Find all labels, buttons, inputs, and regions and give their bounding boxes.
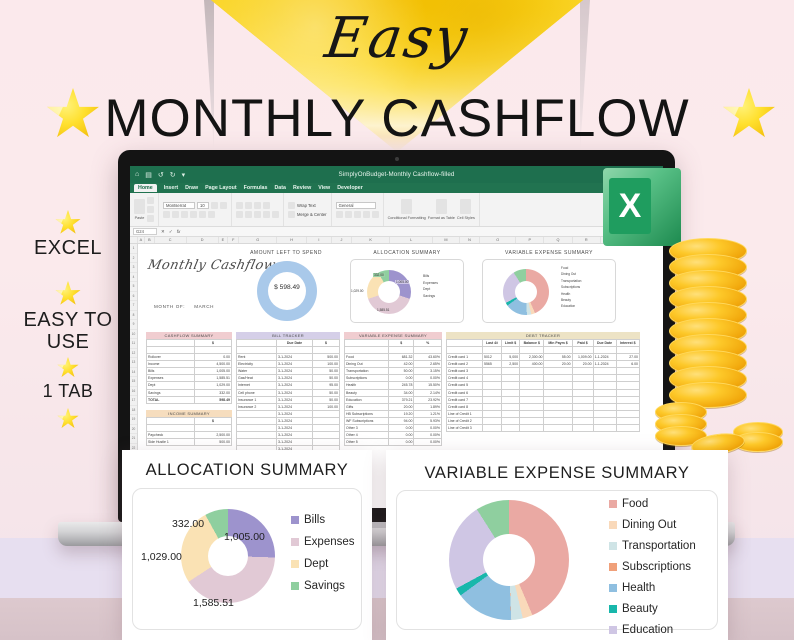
font-group[interactable]: Montserrat 10	[159, 193, 232, 226]
cell-pct[interactable]: 0.00%	[414, 425, 442, 432]
cell-label[interactable]: HB Subscriptions	[345, 410, 389, 417]
variable-expense-summary-card: VARIABLE EXPENSE SUMMARY Food Dining Out…	[386, 450, 728, 640]
table-row: Line of Credit 2	[447, 417, 640, 424]
alignment-group[interactable]	[232, 193, 284, 226]
table-row: 3-1-2024	[237, 432, 340, 439]
cell-label[interactable]	[237, 432, 277, 439]
column-O[interactable]: O	[480, 237, 516, 243]
sheet-variable-donut-chart	[503, 269, 549, 315]
cell-label[interactable]: Savings	[147, 389, 195, 396]
table-row: HB Subscriptions19.201.21%	[345, 410, 442, 417]
table-row: 3-1-2024	[237, 439, 340, 446]
amount-left-donut-chart	[257, 261, 317, 321]
align-right-icon[interactable]	[254, 211, 261, 218]
sheet-allocation-label-dept: 1,029.00	[351, 289, 363, 293]
variable-legend-beauty: Beauty	[609, 603, 696, 615]
decrease-font-icon[interactable]	[220, 202, 227, 209]
cell-due[interactable]: 3-1-2024	[277, 425, 313, 432]
comma-icon[interactable]	[354, 211, 361, 218]
variable-legend-transportation: Transportation	[609, 540, 696, 552]
debt-tracker-banner: DEBT TRACKER	[446, 332, 640, 339]
feature-label-easy-to-use: EASY TOUSE	[3, 310, 133, 353]
increase-decimal-icon[interactable]	[363, 211, 370, 218]
table-row: Credit card 150125,0002,300.0055.001,009…	[447, 354, 640, 361]
cell-due[interactable]: 3-1-2024	[277, 410, 313, 417]
align-left-icon[interactable]	[236, 211, 243, 218]
cell-label[interactable]: Line of Credit 3	[447, 425, 483, 432]
cell-pct[interactable]: 0.00%	[414, 439, 442, 446]
cashflow-summary-banner: CASHFLOW SUMMARY	[146, 332, 232, 339]
debt-col-balance: Balance $	[520, 340, 544, 347]
cell-due[interactable]: 3-1-2024	[277, 403, 313, 410]
save-icon[interactable]: ▤	[145, 171, 152, 179]
cell-label[interactable]: Insurance 1	[237, 396, 277, 403]
variable-legend-health: Health	[609, 582, 696, 594]
table-row: 3-1-2024	[237, 410, 340, 417]
formula-bar[interactable]: G24 ✕ ✓ fx	[130, 227, 663, 237]
cell-value[interactable]: 245.78	[389, 382, 414, 389]
clipboard-group[interactable]: Paste	[130, 193, 159, 226]
cell-value[interactable]: 50.00	[312, 375, 339, 382]
ribbon-toolbar[interactable]: Paste Montserrat 10	[130, 193, 663, 227]
cell-value[interactable]: 19.20	[389, 410, 414, 417]
variable-expense-table[interactable]: $% Food681.3243.60% Dining Out42.002.65%…	[344, 339, 442, 446]
tab-data[interactable]: Data	[274, 185, 285, 191]
month-of-value: MARCH	[194, 304, 214, 309]
cell-value[interactable]: 100.00	[312, 361, 339, 368]
income-col-amount: $	[195, 418, 232, 425]
name-box[interactable]: G24	[133, 228, 157, 235]
cell-label[interactable]: Subscriptions	[345, 375, 389, 382]
table-row: Dining Out42.002.65%	[345, 361, 442, 368]
cell-value[interactable]: 50.00	[312, 389, 339, 396]
align-center-icon[interactable]	[245, 211, 252, 218]
font-color-icon[interactable]	[208, 211, 215, 218]
cell-label[interactable]: Health	[345, 382, 389, 389]
cancel-formula-icon[interactable]: ✕	[161, 229, 165, 235]
cell-label[interactable]: WF Subscriptions	[345, 417, 389, 424]
excel-title-bar: ⌂ ▤ ↺ ↻ ▾ SimplyOnBudget-Monthly Cashflo…	[130, 166, 663, 183]
cell-value[interactable]: 50.00	[312, 368, 339, 375]
cell-label[interactable]	[237, 439, 277, 446]
format-as-table-label: Format as Table	[428, 216, 455, 220]
debt-col-paid: Paid $	[572, 340, 593, 347]
cell-label[interactable]: Internet	[237, 382, 277, 389]
cell-due[interactable]: 3-1-2024	[277, 396, 313, 403]
column-C[interactable]: C	[155, 237, 187, 243]
conditional-formatting-label: Conditional Formatting	[388, 216, 426, 220]
sheet-signature-title: Monthly Cashflow	[146, 258, 277, 273]
italic-icon[interactable]	[172, 211, 179, 218]
column-J[interactable]: J	[332, 237, 353, 243]
column-A[interactable]: A	[138, 237, 146, 243]
home-icon[interactable]: ⌂	[135, 171, 139, 178]
bill-col-due: Due Date	[277, 340, 313, 347]
decrease-indent-icon[interactable]	[263, 211, 270, 218]
table-row: Savings332.00	[147, 389, 232, 396]
tab-developer[interactable]: Developer	[337, 185, 363, 191]
table-row: Paycheck2,500.00	[147, 432, 232, 439]
table-row: Credit card 6	[447, 389, 640, 396]
cell-value[interactable]: 20.00	[389, 403, 414, 410]
wrap-text-label: Wrap Text	[297, 203, 316, 208]
excel-logo-letter: X	[609, 178, 651, 234]
allocation-legend-dept: Dept	[291, 558, 355, 570]
tab-view[interactable]: View	[318, 185, 330, 191]
cell-due[interactable]: 3-1-2024	[277, 417, 313, 424]
cell-label[interactable]: Credit card 5	[447, 382, 483, 389]
cell-value[interactable]: 681.32	[389, 354, 414, 361]
cell-value[interactable]: 50.00	[312, 396, 339, 403]
quick-access-toolbar[interactable]: ⌂ ▤ ↺ ↻ ▾	[135, 171, 185, 179]
cell-styles-label: Cell Styles	[457, 216, 475, 220]
cell-label[interactable]: TOTAL	[147, 396, 195, 403]
table-row: Side Hustle 1500.00	[147, 439, 232, 446]
cell-label[interactable]: Beauty	[345, 389, 389, 396]
cell-value[interactable]: 0.00	[389, 432, 414, 439]
cell-label[interactable]: Other 3	[345, 425, 389, 432]
cell-min[interactable]: 55.00	[544, 354, 572, 361]
cell-pct[interactable]: 1.89%	[414, 403, 442, 410]
cell-due[interactable]: 3-1-2024	[277, 382, 313, 389]
table-row: Credit card 3	[447, 368, 640, 375]
cell-label[interactable]: Insurance 2	[237, 403, 277, 410]
table-row: Expenses1,585.51	[147, 375, 232, 382]
accept-formula-icon[interactable]: ✓	[169, 229, 173, 235]
table-row: Other 30.000.00%	[345, 425, 442, 432]
format-painter-icon[interactable]	[147, 215, 154, 222]
cell-label[interactable]: Credit card 8	[447, 403, 483, 410]
tab-page-layout[interactable]: Page Layout	[205, 185, 237, 191]
income-summary-table[interactable]: $ Paycheck2,500.00 Side Hustle 1500.00	[146, 417, 232, 446]
align-bottom-icon[interactable]	[254, 202, 261, 209]
cell-label[interactable]: Electricity	[237, 361, 277, 368]
cell-last4[interactable]: 5012	[483, 354, 502, 361]
table-row: Credit card 5	[447, 382, 640, 389]
table-row: Dept1,029.00	[147, 382, 232, 389]
debt-tracker-table[interactable]: Last 4# Limit $ Balance $ Min Paym $ Pai…	[446, 339, 640, 432]
cell-label[interactable]: Expenses	[147, 375, 195, 382]
bill-tracker-banner: BILL TRACKER	[236, 332, 340, 339]
cell-label[interactable]: Credit card 3	[447, 368, 483, 375]
sheet-legend-dept: Dept	[423, 287, 438, 291]
debt-col-last4: Last 4#	[483, 340, 502, 347]
cell-value[interactable]: 0.00	[389, 425, 414, 432]
cell-value[interactable]: 598.49	[195, 396, 232, 403]
sheet-vlegend-education: Education	[561, 304, 581, 308]
table-row: Credit card 255652,500400.0020.0020.001-…	[447, 361, 640, 368]
cell-value[interactable]: 42.00	[389, 361, 414, 368]
column-H[interactable]: H	[277, 237, 307, 243]
cell-value[interactable]: 100.00	[312, 403, 339, 410]
cell-value[interactable]: 332.00	[195, 389, 232, 396]
cell-label[interactable]: Side Hustle 1	[147, 439, 195, 446]
cell-interest[interactable]: 6.00	[616, 361, 640, 368]
column-D[interactable]: D	[187, 237, 219, 243]
paste-icon[interactable]	[134, 199, 145, 214]
cell-due[interactable]: 3-1-2024	[277, 439, 313, 446]
month-of-label: MONTH OF:	[154, 304, 185, 309]
ve-col-amount: $	[389, 340, 414, 347]
cell-pct[interactable]: 2.65%	[414, 361, 442, 368]
cell-label[interactable]: Rollover	[147, 354, 195, 361]
cell-label[interactable]: Paycheck	[147, 432, 195, 439]
cell-value[interactable]: 0.00	[195, 354, 232, 361]
cell-due[interactable]: 1-1-2024	[593, 354, 616, 361]
column-K[interactable]: K	[352, 237, 390, 243]
table-row: Cell phone3-1-202450.00	[237, 389, 340, 396]
increase-indent-icon[interactable]	[272, 211, 279, 218]
cell-value[interactable]: 34.00	[389, 389, 414, 396]
webcam-icon	[395, 157, 399, 161]
cell-styles-icon[interactable]	[460, 199, 471, 214]
table-row: Credit card 4	[447, 375, 640, 382]
percent-icon[interactable]	[345, 211, 352, 218]
conditional-formatting-icon[interactable]	[401, 199, 412, 214]
cell-label[interactable]: Credit card 2	[447, 361, 483, 368]
cell-label[interactable]: Credit card 4	[447, 375, 483, 382]
bill-tracker-table[interactable]: Due Date$ Rent3-1-2024500.00 Electricity…	[236, 339, 340, 453]
excel-logo: X	[603, 168, 681, 246]
wrap-text-icon[interactable]	[288, 202, 295, 209]
cell-value[interactable]: 0.00	[389, 375, 414, 382]
sheet-allocation-label-expenses: 1,585.51	[377, 308, 389, 312]
cell-pct[interactable]: 23.92%	[414, 396, 442, 403]
feature-label-one-tab: 1 TAB	[3, 382, 133, 401]
sheet-vlegend-transport: Transportation	[561, 279, 581, 283]
table-row: TOTAL598.49	[147, 396, 232, 403]
tab-home[interactable]: Home	[134, 184, 157, 192]
cell-label[interactable]: Credit card 7	[447, 396, 483, 403]
currency-icon[interactable]	[336, 211, 343, 218]
cell-value[interactable]: 379.21	[389, 396, 414, 403]
cell-pct[interactable]: 1.21%	[414, 410, 442, 417]
cell-label[interactable]: Credit card 6	[447, 389, 483, 396]
cell-due[interactable]: 3-1-2024	[277, 368, 313, 375]
cell-due[interactable]: 3-1-2024	[277, 361, 313, 368]
variable-expense-banner: VARIABLE EXPENSE SUMMARY	[344, 332, 442, 339]
cell-value[interactable]: 2,500.00	[195, 432, 232, 439]
cell-pct[interactable]: 43.60%	[414, 354, 442, 361]
align-middle-icon[interactable]	[245, 202, 252, 209]
cell-due[interactable]: 3-1-2024	[277, 389, 313, 396]
table-row: Gas/Heat3-1-202450.00	[237, 375, 340, 382]
table-row: Transportation50.003.15%	[345, 368, 442, 375]
cell-label[interactable]: Transportation	[345, 368, 389, 375]
sheet-vlegend-beauty: Beauty	[561, 298, 581, 302]
allocation-legend-expenses: Expenses	[291, 536, 355, 548]
cut-icon[interactable]	[147, 197, 154, 204]
sheet-allocation-title: ALLOCATION SUMMARY	[352, 250, 462, 256]
table-row: Water3-1-202450.00	[237, 368, 340, 375]
cell-value[interactable]: 500.00	[195, 439, 232, 446]
tab-review[interactable]: Review	[293, 185, 311, 191]
number-group[interactable]: General	[332, 193, 384, 226]
cell-last4[interactable]: 5565	[483, 361, 502, 368]
script-easy-text: Easy	[0, 6, 794, 71]
cell-min[interactable]: 20.00	[544, 361, 572, 368]
cell-pct[interactable]: 15.50%	[414, 382, 442, 389]
borders-icon[interactable]	[190, 211, 197, 218]
table-row: 3-1-2024	[237, 425, 340, 432]
number-format-select[interactable]: General	[336, 202, 376, 209]
fill-color-icon[interactable]	[199, 211, 206, 218]
table-row: Electricity3-1-2024100.00	[237, 361, 340, 368]
tab-formulas[interactable]: Formulas	[244, 185, 268, 191]
cell-paid[interactable]: 20.00	[572, 361, 593, 368]
copy-icon[interactable]	[147, 206, 154, 213]
column-F[interactable]: F	[228, 237, 239, 243]
cell-label[interactable]: Water	[237, 368, 277, 375]
cell-value[interactable]: 94.00	[389, 417, 414, 424]
debt-col-due: Due Date	[593, 340, 616, 347]
table-row: Credit card 7	[447, 396, 640, 403]
column-R[interactable]: R	[573, 237, 601, 243]
cell-label[interactable]: Credit card 1	[447, 354, 483, 361]
table-row: Other 50.000.00%	[345, 439, 442, 446]
column-G[interactable]: G	[239, 237, 277, 243]
cell-label[interactable]: Dining Out	[345, 361, 389, 368]
cell-pct[interactable]: 5.93%	[414, 417, 442, 424]
align-top-icon[interactable]	[236, 202, 243, 209]
variable-legend-subscriptions: Subscriptions	[609, 561, 696, 573]
cell-due[interactable]: 1-1-2024	[593, 361, 616, 368]
cell-value[interactable]: 95.00	[312, 382, 339, 389]
merge-center-icon[interactable]	[288, 211, 295, 218]
column-M[interactable]: M	[433, 237, 459, 243]
page-title: MONTHLY CASHFLOW	[0, 88, 794, 149]
sheet-vlegend-subs: Subscriptions	[561, 285, 581, 289]
column-header-row[interactable]: A B C D E F G H I J K L M N O P Q R S T	[130, 237, 663, 244]
feature-label-excel: EXCEL	[3, 238, 133, 260]
cell-due[interactable]: 3-1-2024	[277, 375, 313, 382]
cell-label[interactable]	[237, 410, 277, 417]
allocation-legend-savings: Savings	[291, 580, 355, 592]
font-name-input[interactable]: Montserrat	[163, 202, 195, 209]
font-size-input[interactable]: 10	[197, 202, 209, 209]
star-icon-easy	[55, 281, 81, 307]
debt-col-interest: Interest $	[616, 340, 640, 347]
redo-icon[interactable]: ↻	[170, 171, 176, 179]
cell-label[interactable]: Gifts	[345, 403, 389, 410]
cell-label[interactable]: Food	[345, 354, 389, 361]
column-E[interactable]: E	[219, 237, 228, 243]
poster-canvas: Easy MONTHLY CASHFLOW EXCEL EASY TOUSE 1…	[0, 0, 794, 640]
table-row: Income4,500.00	[147, 361, 232, 368]
cell-limit[interactable]: 5,000	[502, 354, 520, 361]
table-row: Subscriptions0.000.00%	[345, 375, 442, 382]
cell-label[interactable]: Bills	[147, 368, 195, 375]
tab-insert[interactable]: Insert	[164, 185, 178, 191]
column-Q[interactable]: Q	[544, 237, 572, 243]
cashflow-col-amount: $	[195, 340, 232, 347]
ribbon-tab-bar[interactable]: Home Insert Draw Page Layout Formulas Da…	[130, 183, 663, 193]
variable-legend-dining-out: Dining Out	[609, 519, 696, 531]
column-B[interactable]: B	[145, 237, 154, 243]
format-as-table-icon[interactable]	[436, 199, 447, 214]
cell-value[interactable]: 4,500.00	[195, 361, 232, 368]
cell-value[interactable]: 0.00	[389, 439, 414, 446]
orientation-icon[interactable]	[263, 202, 270, 209]
sheet-legend-bills: Bills	[423, 274, 438, 278]
styles-group[interactable]: Conditional Formatting Format as Table C…	[384, 193, 480, 226]
cell-label[interactable]: Line of Credit 1	[447, 410, 483, 417]
cell-label[interactable]: Other 5	[345, 439, 389, 446]
cell-due[interactable]: 3-1-2024	[277, 432, 313, 439]
cell-interest[interactable]: 27.00	[616, 354, 640, 361]
column-L[interactable]: L	[390, 237, 433, 243]
cell-value[interactable]: 50.00	[389, 368, 414, 375]
variable-chart-frame: Food Dining Out Transportation Subscript…	[396, 490, 718, 630]
cell-value[interactable]: 1,005.00	[195, 368, 232, 375]
cell-value[interactable]: 1,029.00	[195, 382, 232, 389]
cell-label[interactable]: Other 4	[345, 432, 389, 439]
cell-label[interactable]	[237, 417, 277, 424]
cell-label[interactable]	[237, 425, 277, 432]
decrease-decimal-icon[interactable]	[372, 211, 379, 218]
bill-col-amount: $	[312, 340, 339, 347]
column-N[interactable]: N	[460, 237, 481, 243]
table-row: Education379.2123.92%	[345, 396, 442, 403]
cashflow-summary-table[interactable]: $ Rollover0.00 Income4,500.00 Bills1,005…	[146, 339, 232, 404]
allocation-value-bills: 1,005.00	[224, 531, 265, 543]
undo-icon[interactable]: ↺	[158, 171, 164, 179]
cell-label[interactable]: Gas/Heat	[237, 375, 277, 382]
sheet-vlegend-food: Food	[561, 266, 581, 270]
cell-label[interactable]: Education	[345, 396, 389, 403]
increase-font-icon[interactable]	[211, 202, 218, 209]
underline-icon[interactable]	[181, 211, 188, 218]
cell-limit[interactable]: 2,500	[502, 361, 520, 368]
cell-label[interactable]: Cell phone	[237, 389, 277, 396]
column-I[interactable]: I	[307, 237, 331, 243]
bold-icon[interactable]	[163, 211, 170, 218]
cell-paid[interactable]: 1,009.00	[572, 354, 593, 361]
income-summary-banner: INCOME SUMMARY	[146, 410, 232, 417]
cell-balance[interactable]: 400.00	[520, 361, 544, 368]
cell-value[interactable]: 500.00	[312, 354, 339, 361]
sheet-legend-expenses: Expenses	[423, 281, 438, 285]
cell-label[interactable]: Rent	[237, 354, 277, 361]
sheet-allocation-label-bills: 1,005.00	[395, 280, 409, 284]
table-row: Internet3-1-202495.00	[237, 382, 340, 389]
insert-function-icon[interactable]: fx	[177, 229, 181, 234]
star-icon-bottom	[57, 408, 79, 430]
cell-pct[interactable]: 2.14%	[414, 389, 442, 396]
debt-col-limit: Limit $	[502, 340, 520, 347]
sheet-variable-card: Food Dining Out Transportation Subscript…	[482, 259, 616, 323]
cell-label[interactable]: Dept	[147, 382, 195, 389]
cell-balance[interactable]: 2,300.00	[520, 354, 544, 361]
column-P[interactable]: P	[516, 237, 544, 243]
sheet-vlegend-dining: Dining Out	[561, 272, 581, 276]
cell-pct[interactable]: 0.00%	[414, 375, 442, 382]
allocation-chart-frame: 332.00 1,005.00 1,029.00 1,585.51 Bills …	[132, 488, 362, 630]
amount-left-value: $ 598.49	[257, 284, 317, 291]
wrap-merge-group[interactable]: Wrap Text Merge & Center	[284, 193, 332, 226]
table-row: Food681.3243.60%	[345, 354, 442, 361]
tab-draw[interactable]: Draw	[185, 185, 198, 191]
cell-due[interactable]: 3-1-2024	[277, 354, 313, 361]
cell-pct[interactable]: 0.00%	[414, 432, 442, 439]
allocation-value-expenses: 1,585.51	[193, 597, 234, 609]
cell-value[interactable]: 1,585.51	[195, 375, 232, 382]
cell-label[interactable]: Line of Credit 2	[447, 417, 483, 424]
variable-legend-education: Education	[609, 624, 696, 636]
cell-label[interactable]: Income	[147, 361, 195, 368]
cell-pct[interactable]: 3.15%	[414, 368, 442, 375]
chevron-down-icon[interactable]: ▾	[182, 171, 186, 179]
